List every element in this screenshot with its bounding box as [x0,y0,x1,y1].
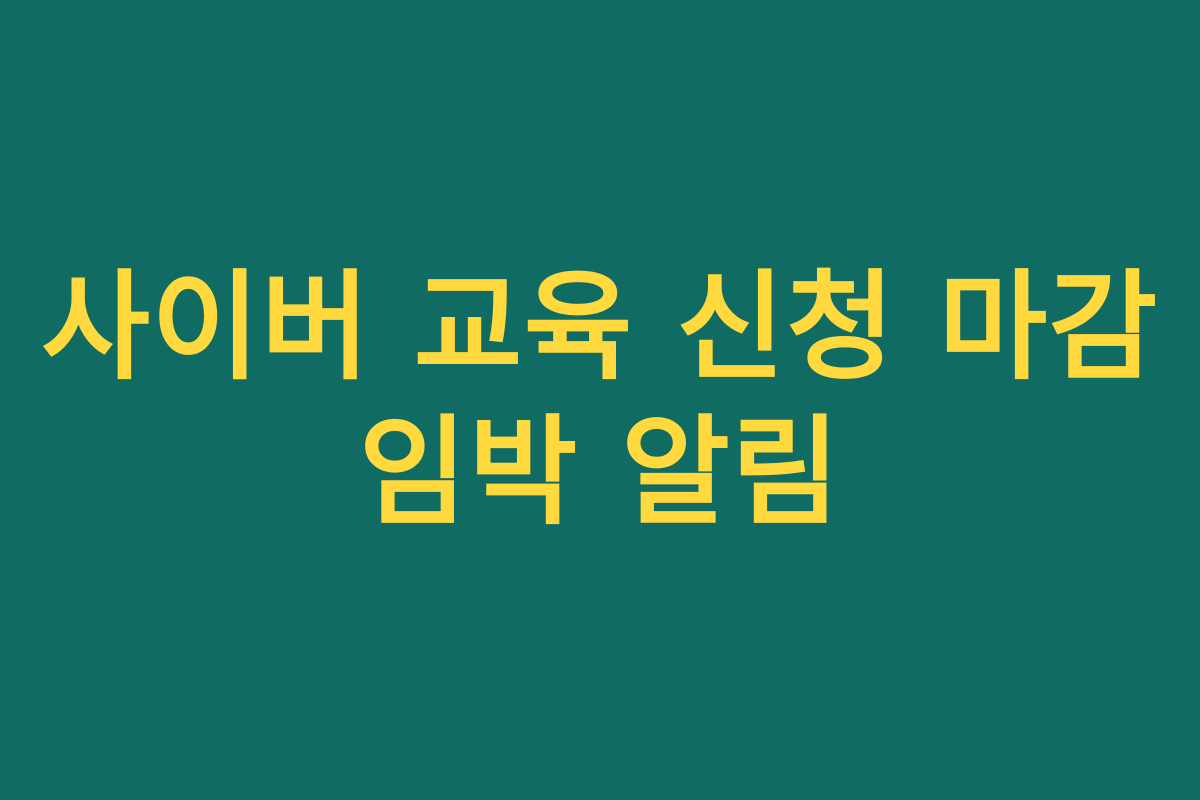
headline-line-2: 임박 알림 [359,403,841,542]
notice-banner: 사이버 교육 신청 마감 임박 알림 [0,0,1200,800]
banner-headline: 사이버 교육 신청 마감 임박 알림 [0,258,1200,542]
headline-line-1: 사이버 교육 신청 마감 [41,258,1158,397]
